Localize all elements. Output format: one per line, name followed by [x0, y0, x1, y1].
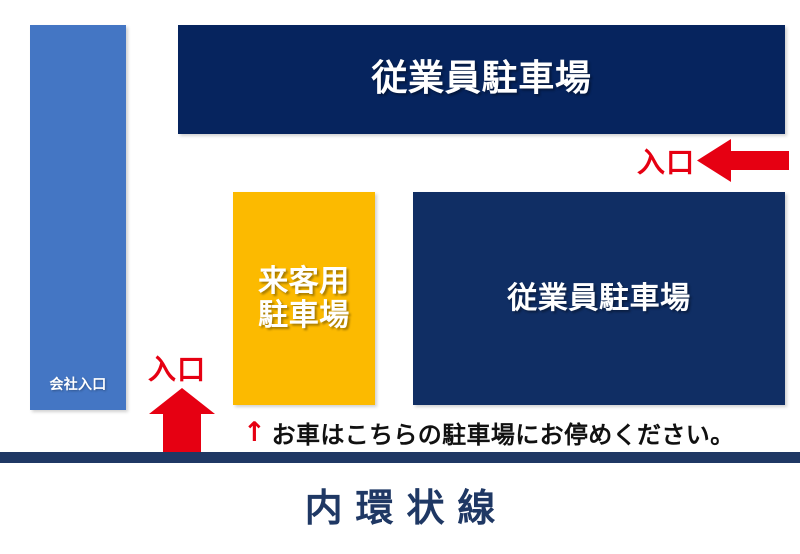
entrance-label-right: 入口 [637, 141, 695, 181]
road-line [0, 452, 800, 463]
parking-instruction: ↑ お車はこちらの駐車場にお停めください。 [243, 415, 783, 450]
employee-parking-lot-right-label: 従業員駐車場 [507, 282, 691, 316]
arrow-up-icon: ↑ [243, 419, 266, 446]
parking-instruction-text: お車はこちらの駐車場にお停めください。 [272, 415, 735, 450]
arrow-left-icon [697, 138, 789, 183]
parking-map-canvas: 会社入口 従業員駐車場 来客用 駐車場 従業員駐車場 入口 入口 ↑ お車はこち… [0, 0, 800, 554]
entrance-label-left: 入口 [148, 348, 206, 388]
visitor-parking-lot: 来客用 駐車場 [233, 192, 375, 405]
employee-parking-lot-right: 従業員駐車場 [413, 192, 785, 405]
employee-parking-lot-top-label: 従業員駐車場 [371, 59, 591, 99]
company-entrance-bar: 会社入口 [30, 25, 126, 410]
visitor-parking-lot-label: 来客用 駐車場 [258, 265, 350, 332]
company-entrance-label: 会社入口 [30, 374, 126, 394]
arrow-up-icon [149, 388, 215, 462]
road-name-label: 内環状線 [0, 477, 800, 532]
employee-parking-lot-top: 従業員駐車場 [178, 25, 785, 134]
